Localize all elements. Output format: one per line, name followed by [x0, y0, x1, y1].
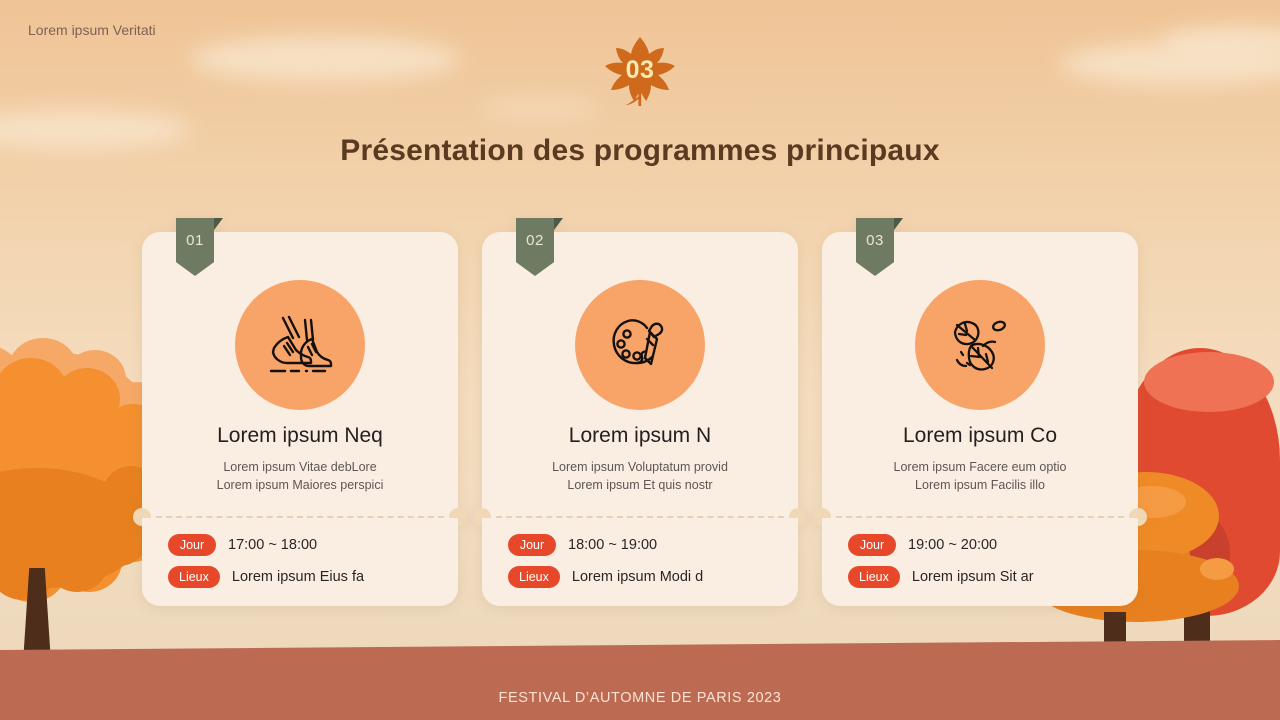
program-card[interactable]: 02 Lorem ipsum N	[482, 232, 798, 606]
card-meta-row-lieux: Lieux Lorem ipsum Sit ar	[848, 566, 1118, 588]
card-ribbon-tag: 01	[176, 218, 214, 276]
program-card-list: 01	[142, 232, 1138, 606]
lieux-value: Lorem ipsum Sit ar	[912, 569, 1034, 585]
card-meta-row-jour: Jour 18:00 ~ 19:00	[508, 534, 778, 556]
jour-value: 19:00 ~ 20:00	[908, 537, 997, 553]
ribbon-number: 01	[176, 232, 214, 249]
jour-value: 17:00 ~ 18:00	[228, 537, 317, 553]
leaf-badge: 03	[0, 36, 1280, 106]
card-desc-line: Lorem ipsum Maiores perspici	[160, 476, 440, 494]
card-icon-circle	[575, 280, 705, 410]
jour-value: 18:00 ~ 19:00	[568, 537, 657, 553]
card-bottom-section: Jour 19:00 ~ 20:00 Lieux Lorem ipsum Sit…	[822, 518, 1138, 606]
card-icon-circle	[235, 280, 365, 410]
card-title: Lorem ipsum Co	[840, 424, 1120, 448]
walking-shoes-icon	[263, 312, 337, 378]
card-desc-line: Lorem ipsum Vitae debLore	[160, 458, 440, 476]
card-bottom-section: Jour 17:00 ~ 18:00 Lieux Lorem ipsum Eiu…	[142, 518, 458, 606]
card-desc-line: Lorem ipsum Voluptatum provid	[500, 458, 780, 476]
card-desc-line: Lorem ipsum Et quis nostr	[500, 476, 780, 494]
slide-canvas: FESTIVAL D’AUTOMNE DE PARIS 2023 Lorem i…	[0, 0, 1280, 720]
jour-pill: Jour	[508, 534, 556, 556]
program-card[interactable]: 01	[142, 232, 458, 606]
falling-leaves-icon	[947, 314, 1013, 376]
leaf-badge-number: 03	[626, 56, 655, 85]
footer-label: FESTIVAL D’AUTOMNE DE PARIS 2023	[0, 690, 1280, 706]
card-desc-line: Lorem ipsum Facilis illo	[840, 476, 1120, 494]
card-meta-row-jour: Jour 19:00 ~ 20:00	[848, 534, 1118, 556]
card-icon-circle	[915, 280, 1045, 410]
page-title: Présentation des programmes principaux	[0, 134, 1280, 168]
paint-palette-icon	[607, 312, 673, 378]
ribbon-number: 03	[856, 232, 894, 249]
card-meta-row-lieux: Lieux Lorem ipsum Modi d	[508, 566, 778, 588]
card-bottom-section: Jour 18:00 ~ 19:00 Lieux Lorem ipsum Mod…	[482, 518, 798, 606]
lieux-value: Lorem ipsum Modi d	[572, 569, 703, 585]
card-meta-row-lieux: Lieux Lorem ipsum Eius fa	[168, 566, 438, 588]
lieux-value: Lorem ipsum Eius fa	[232, 569, 364, 585]
jour-pill: Jour	[168, 534, 216, 556]
program-card[interactable]: 03	[822, 232, 1138, 606]
lieux-pill: Lieux	[168, 566, 220, 588]
card-ribbon-tag: 03	[856, 218, 894, 276]
card-ribbon-tag: 02	[516, 218, 554, 276]
card-desc-line: Lorem ipsum Facere eum optio	[840, 458, 1120, 476]
ground-band	[0, 640, 1280, 720]
card-meta-row-jour: Jour 17:00 ~ 18:00	[168, 534, 438, 556]
jour-pill: Jour	[848, 534, 896, 556]
lieux-pill: Lieux	[508, 566, 560, 588]
lieux-pill: Lieux	[848, 566, 900, 588]
card-title: Lorem ipsum N	[500, 424, 780, 448]
ribbon-number: 02	[516, 232, 554, 249]
card-title: Lorem ipsum Neq	[160, 424, 440, 448]
